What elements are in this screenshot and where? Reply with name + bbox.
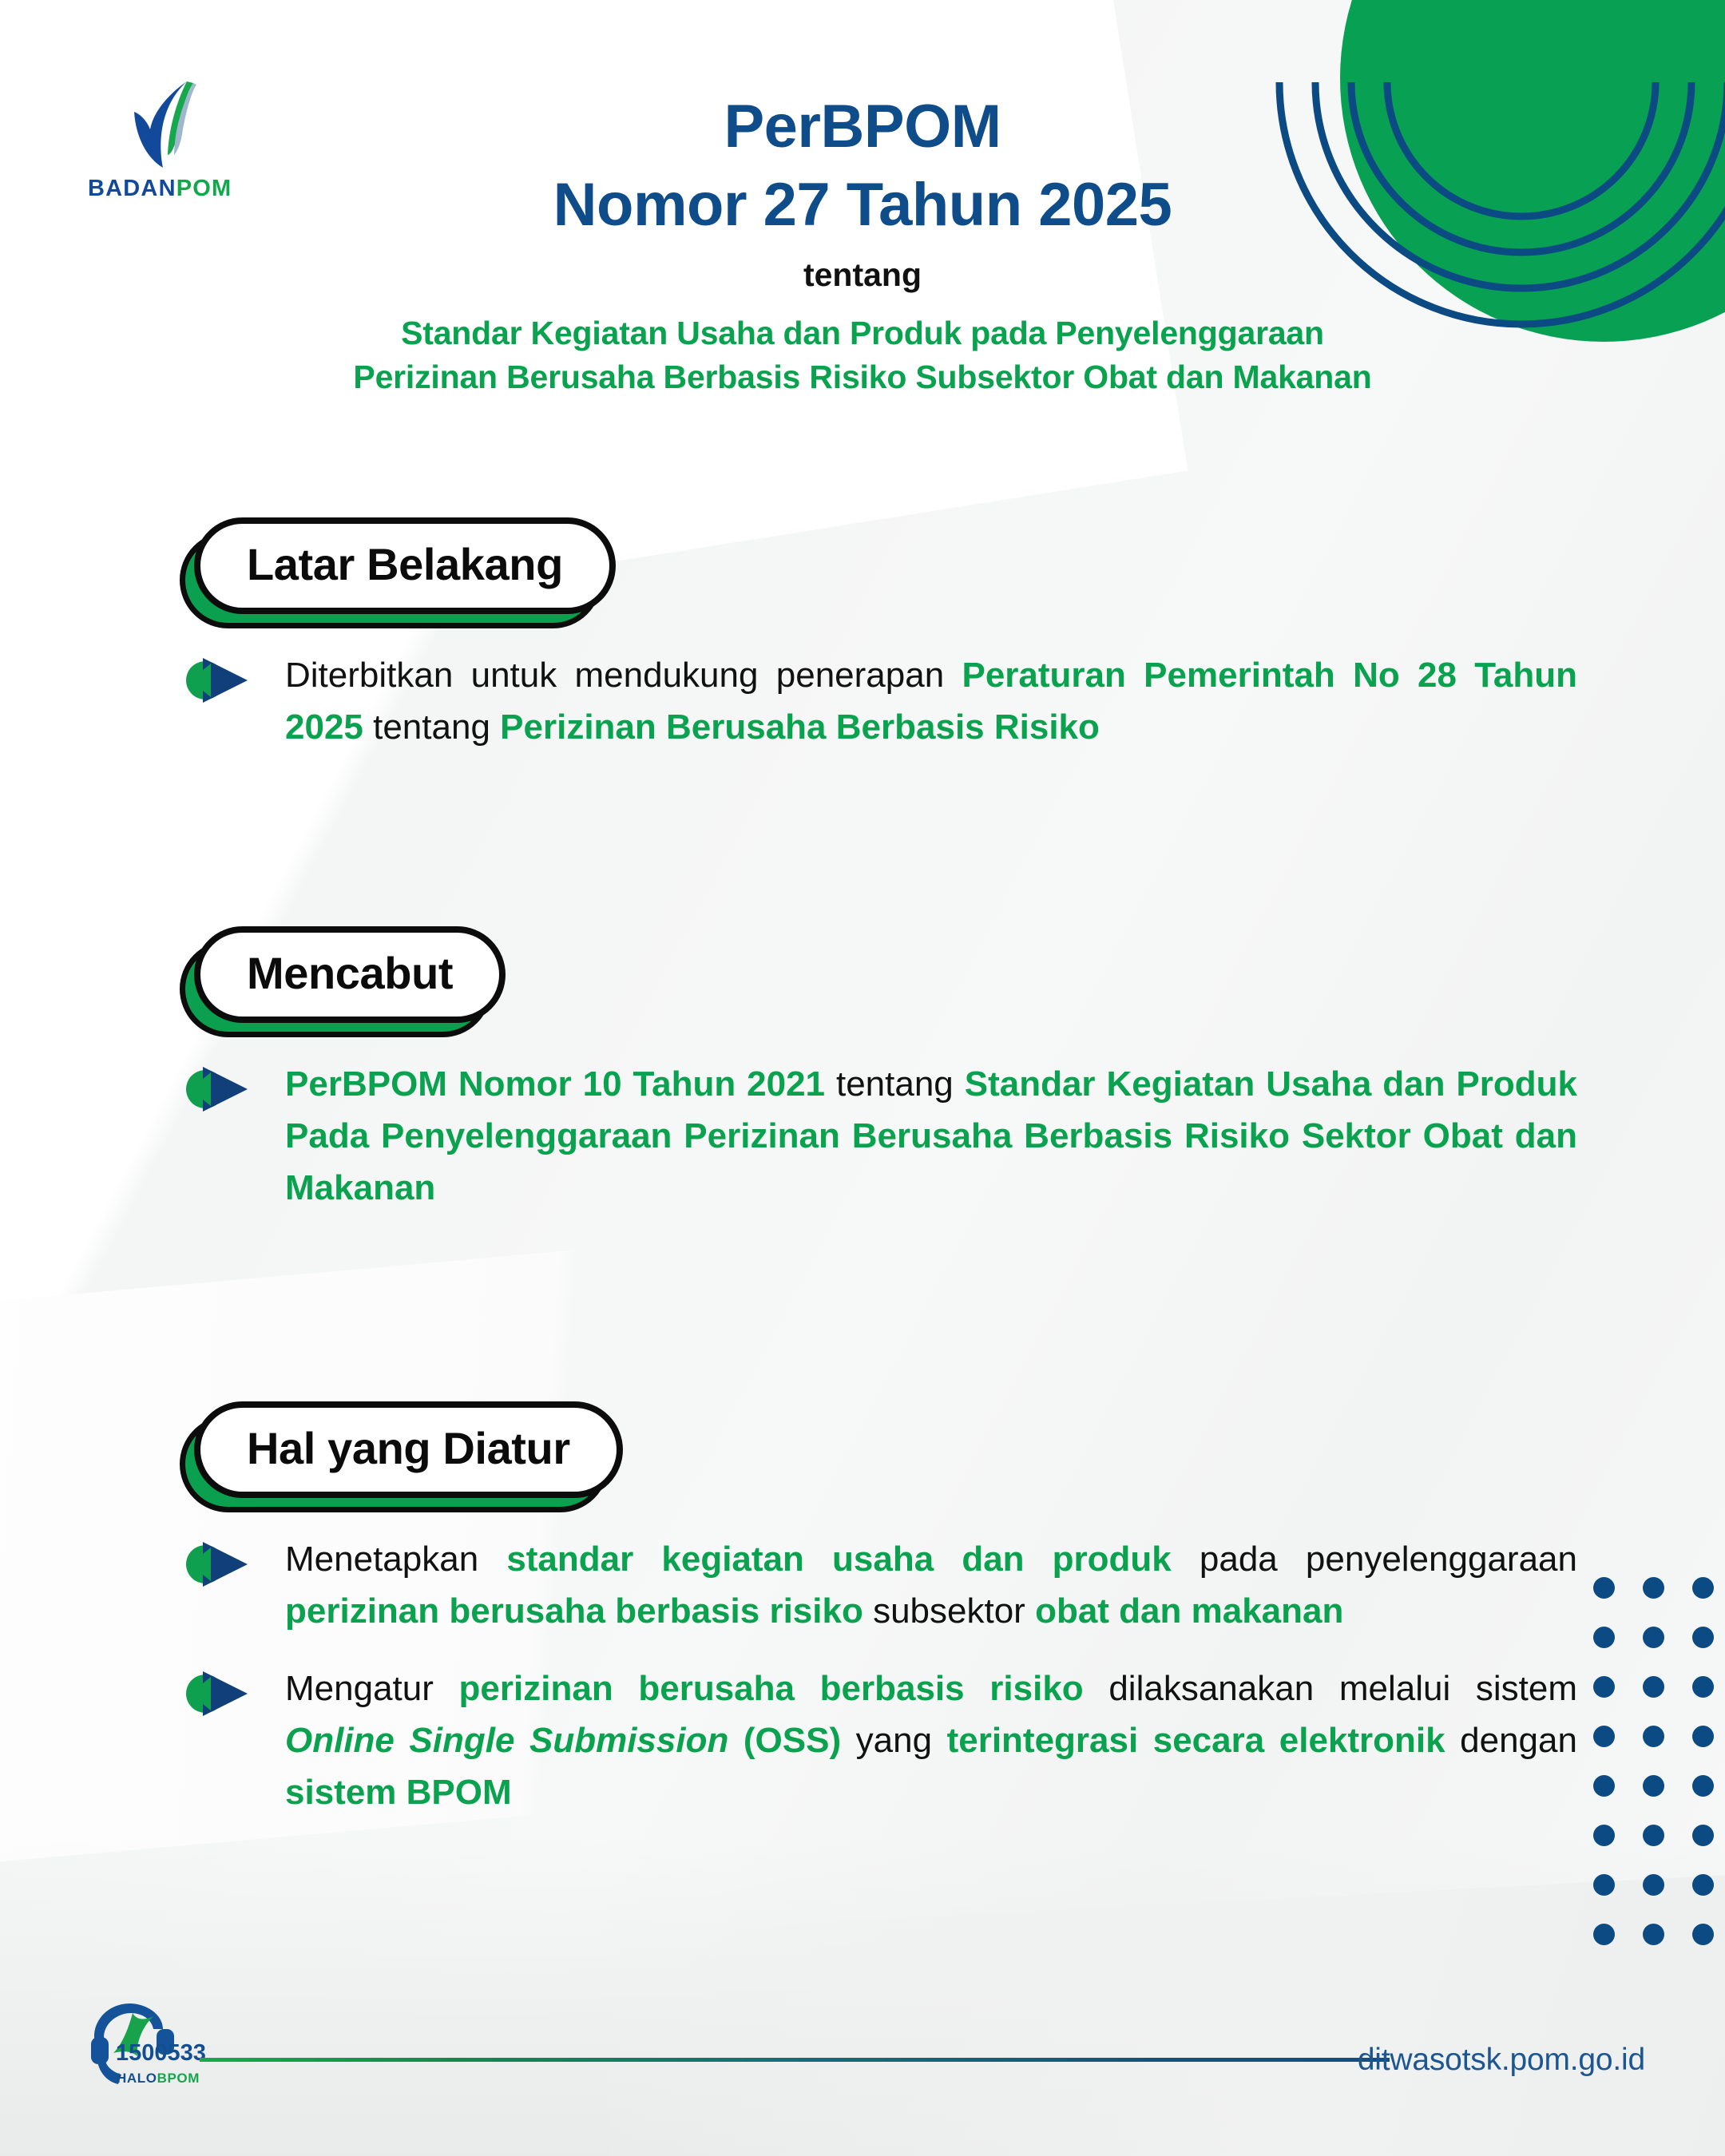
arrow-bullet-icon bbox=[185, 1064, 251, 1114]
halo-bpom-number: 1500533 bbox=[116, 2040, 206, 2067]
badge-face: Hal yang Diatur bbox=[194, 1401, 623, 1498]
list-item-text: PerBPOM Nomor 10 Tahun 2021 tentang Stan… bbox=[285, 1058, 1577, 1214]
badge-label: Hal yang Diatur bbox=[247, 1425, 570, 1472]
section-hal-yang-diatur: Hal yang Diatur Menetapkan standar kegia… bbox=[0, 1401, 1725, 1836]
section-badge-mencabut: Mencabut bbox=[194, 926, 506, 1023]
list-item: Menetapkan standar kegiatan usaha dan pr… bbox=[0, 1533, 1725, 1637]
bpom-word: BPOM bbox=[157, 2071, 200, 2086]
badge-label: Latar Belakang bbox=[247, 541, 563, 589]
section-mencabut: Mencabut PerBPOM Nomor 10 Tahun 2021 ten… bbox=[0, 926, 1725, 1231]
list-item-text: Menetapkan standar kegiatan usaha dan pr… bbox=[285, 1533, 1577, 1637]
section-badge-hal-yang-diatur: Hal yang Diatur bbox=[194, 1401, 623, 1498]
page-subtitle-line1: Standar Kegiatan Usaha dan Produk pada P… bbox=[208, 311, 1517, 355]
page-footer: 1500533 HALOBPOM ditwasotsk.pom.go.id bbox=[0, 1980, 1725, 2156]
page-subtitle: Standar Kegiatan Usaha dan Produk pada P… bbox=[208, 311, 1517, 398]
halo-bpom-wordmark: HALOBPOM bbox=[117, 2071, 200, 2087]
badge-label: Mencabut bbox=[247, 950, 453, 997]
list-item: Mengatur perizinan berusaha berbasis ris… bbox=[0, 1663, 1725, 1818]
page-subtitle-line2: Perizinan Berusaha Berbasis Risiko Subse… bbox=[208, 355, 1517, 399]
arrow-bullet-icon bbox=[185, 656, 251, 705]
section-badge-latar-belakang: Latar Belakang bbox=[194, 517, 616, 614]
footer-divider-line bbox=[200, 2058, 1390, 2062]
list-item-text: Diterbitkan untuk mendukung penerapan Pe… bbox=[285, 649, 1577, 753]
bullet-list: Diterbitkan untuk mendukung penerapan Pe… bbox=[0, 649, 1725, 753]
section-latar-belakang: Latar Belakang Diterbitkan untuk menduku… bbox=[0, 517, 1725, 771]
badge-face: Latar Belakang bbox=[194, 517, 616, 614]
badge-face: Mencabut bbox=[194, 926, 506, 1023]
bullet-list: PerBPOM Nomor 10 Tahun 2021 tentang Stan… bbox=[0, 1058, 1725, 1214]
list-item: Diterbitkan untuk mendukung penerapan Pe… bbox=[0, 649, 1725, 753]
header-title-block: PerBPOM Nomor 27 Tahun 2025 tentang Stan… bbox=[0, 96, 1725, 398]
bullet-list: Menetapkan standar kegiatan usaha dan pr… bbox=[0, 1533, 1725, 1819]
arrow-bullet-icon bbox=[185, 1669, 251, 1718]
page-title-line1: PerBPOM bbox=[0, 96, 1725, 158]
footer-website-url[interactable]: ditwasotsk.pom.go.id bbox=[1358, 2043, 1645, 2078]
tentang-label: tentang bbox=[0, 256, 1725, 294]
list-item: PerBPOM Nomor 10 Tahun 2021 tentang Stan… bbox=[0, 1058, 1725, 1214]
halo-word: HALO bbox=[117, 2071, 157, 2086]
page-title-line2: Nomor 27 Tahun 2025 bbox=[0, 169, 1725, 241]
list-item-text: Mengatur perizinan berusaha berbasis ris… bbox=[285, 1663, 1577, 1818]
arrow-bullet-icon bbox=[185, 1540, 251, 1589]
